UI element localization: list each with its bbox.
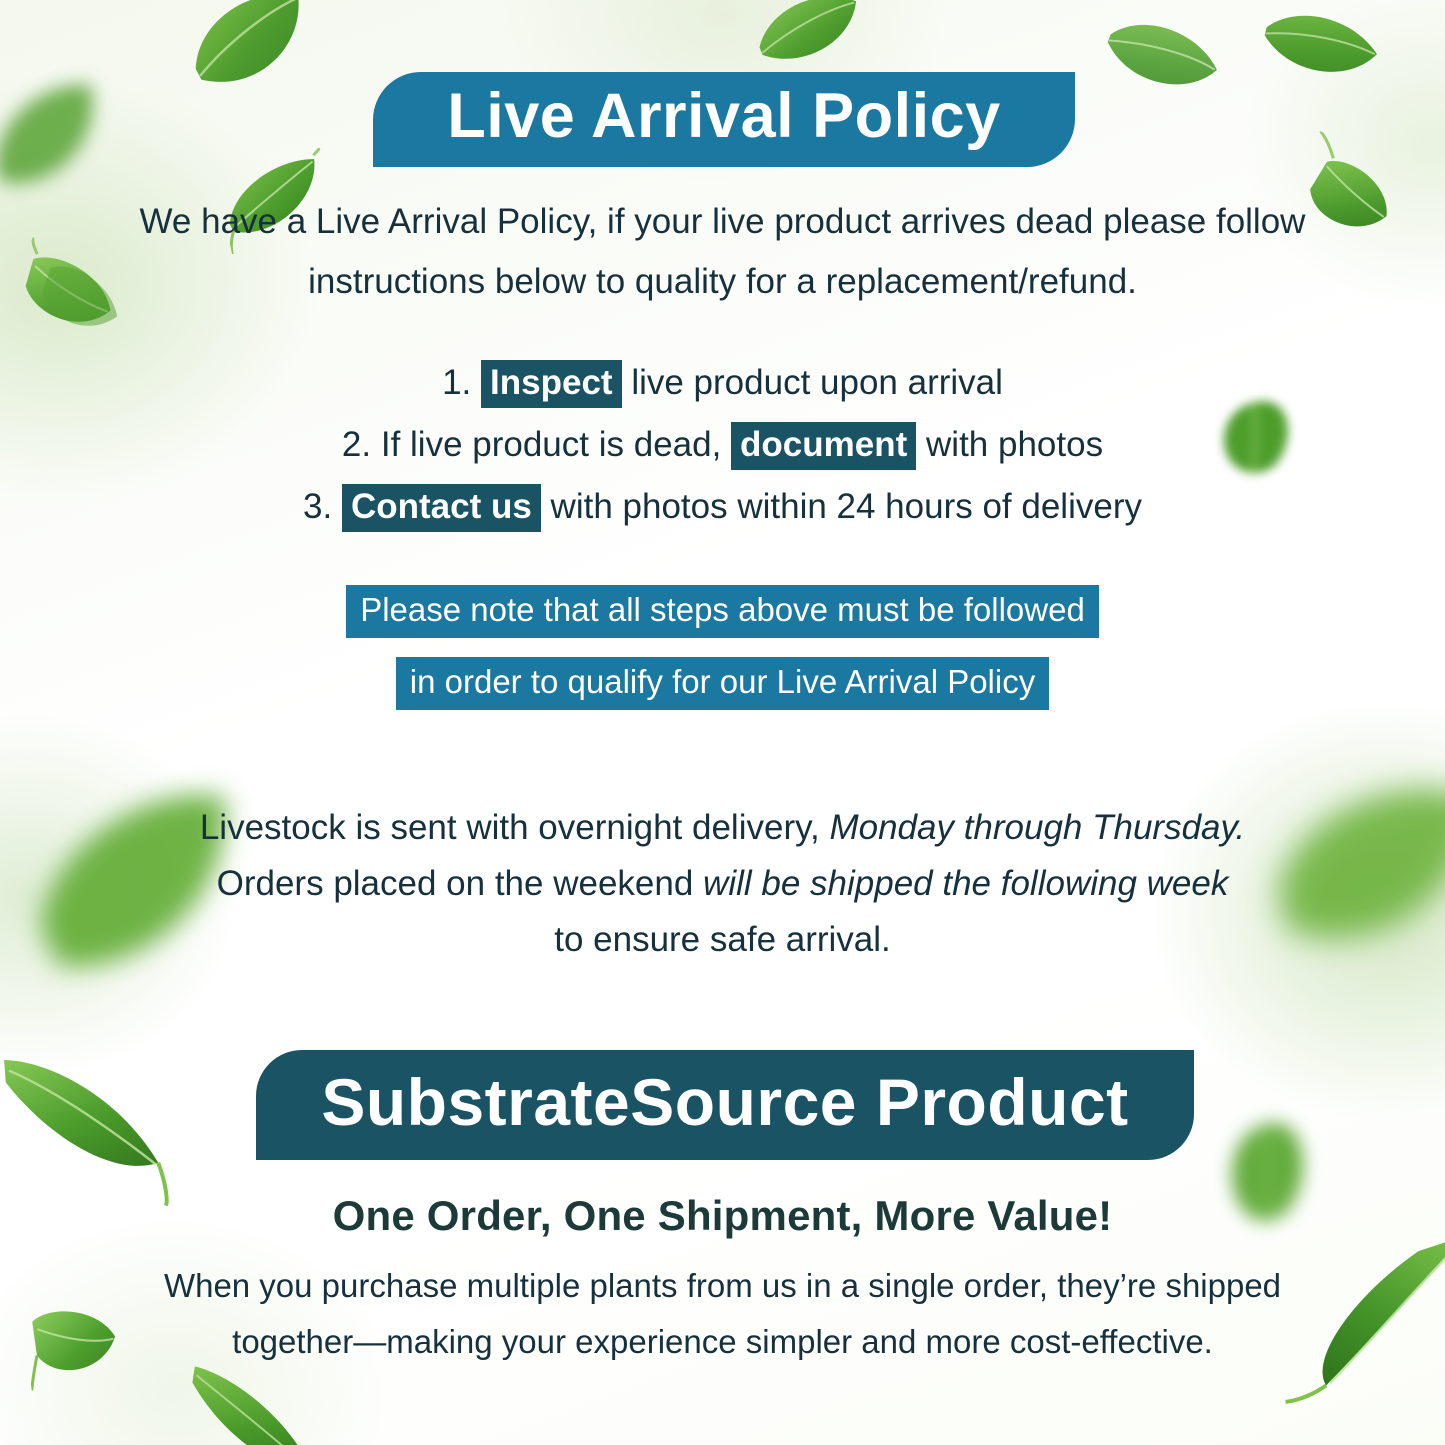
step-text: with photos within 24 hours of delivery: [551, 487, 1142, 526]
product-body-paragraph: When you purchase multiple plants from u…: [0, 1258, 1445, 1370]
substratesource-product-banner: SubstrateSource Product: [256, 1050, 1194, 1160]
step-highlight-contact-us: Contact us: [342, 484, 541, 532]
policy-step-3: 3. Contact us with photos within 24 hour…: [0, 476, 1445, 538]
step-highlight-inspect: Inspect: [481, 360, 622, 408]
step-text: live product upon arrival: [631, 363, 1003, 402]
live-arrival-policy-banner: Live Arrival Policy: [373, 72, 1075, 167]
policy-note-line-2: in order to qualify for our Live Arrival…: [396, 657, 1049, 710]
policy-step-1: 1. Inspect live product upon arrival: [0, 352, 1445, 414]
policy-steps-list: 1. Inspect live product upon arrival 2. …: [0, 352, 1445, 538]
product-body-line-2: together—making your experience simpler …: [0, 1314, 1445, 1370]
shipping-line-2: Orders placed on the weekend will be shi…: [0, 856, 1445, 912]
policy-note-block: Please note that all steps above must be…: [0, 585, 1445, 710]
policy-note-line-1: Please note that all steps above must be…: [346, 585, 1099, 638]
step-text: with photos: [926, 425, 1103, 464]
shipping-line-1-italic: Monday through Thursday.: [829, 808, 1245, 847]
policy-intro-paragraph: We have a Live Arrival Policy, if your l…: [0, 192, 1445, 312]
step-text-pre: If live product is dead,: [381, 425, 721, 464]
step-number: 3.: [303, 487, 332, 526]
step-number: 1.: [442, 363, 471, 402]
policy-intro-line-1: We have a Live Arrival Policy, if your l…: [0, 192, 1445, 252]
shipping-line-3: to ensure safe arrival.: [0, 912, 1445, 968]
product-subheading: One Order, One Shipment, More Value!: [0, 1192, 1445, 1240]
page-content: Live Arrival Policy We have a Live Arriv…: [0, 0, 1445, 1445]
product-body-line-1: When you purchase multiple plants from u…: [0, 1258, 1445, 1314]
shipping-line-1-plain: Livestock is sent with overnight deliver…: [200, 808, 830, 847]
shipping-line-1: Livestock is sent with overnight deliver…: [0, 800, 1445, 856]
step-number: 2.: [342, 425, 371, 464]
step-highlight-document: document: [731, 422, 916, 470]
shipping-line-2-plain: Orders placed on the weekend: [217, 864, 703, 903]
policy-step-2: 2. If live product is dead, document wit…: [0, 414, 1445, 476]
shipping-line-2-italic: will be shipped the following week: [703, 864, 1228, 903]
policy-intro-line-2: instructions below to quality for a repl…: [0, 252, 1445, 312]
livestock-shipping-paragraph: Livestock is sent with overnight deliver…: [0, 800, 1445, 968]
